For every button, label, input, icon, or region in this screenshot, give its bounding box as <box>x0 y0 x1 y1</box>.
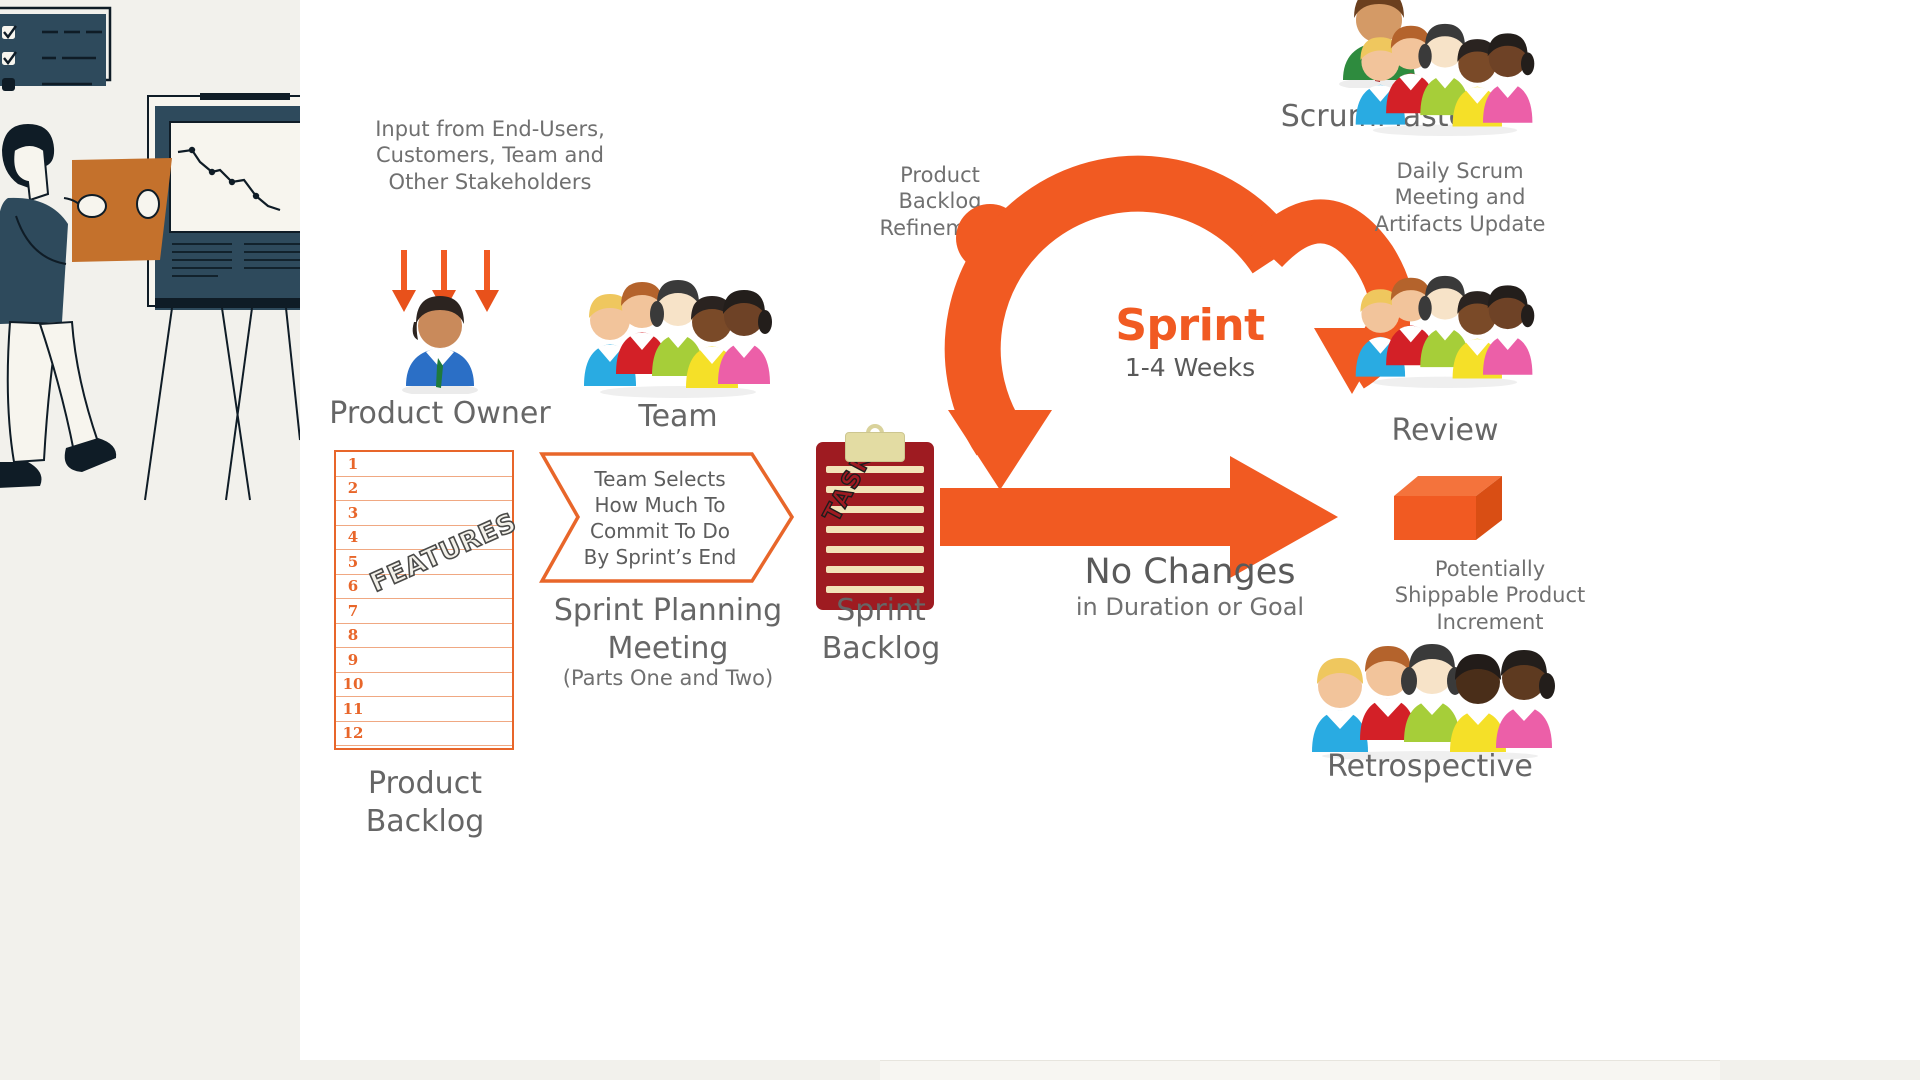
orange-box-icon <box>1390 470 1510 545</box>
clipboard-clip <box>845 432 905 462</box>
retrospective-label: Retrospective <box>1300 748 1560 786</box>
table-row[interactable]: 2 <box>336 477 512 502</box>
sprint-duration-label: 1-4 Weeks <box>1040 353 1340 382</box>
input-from-stakeholders-label: Input from End-Users, Customers, Team an… <box>320 116 660 195</box>
table-row[interactable]: 9 <box>336 648 512 673</box>
backlog-item-number: 7 <box>336 602 370 620</box>
backlog-item-number: 1 <box>336 455 370 473</box>
no-changes-label: No Changes <box>1020 550 1360 594</box>
sprint-center-text: Sprint 1-4 Weeks <box>1040 300 1340 382</box>
daily-scrum-label: Daily Scrum Meeting and Artifacts Update <box>1310 158 1610 237</box>
sprint-planning-chevron[interactable]: Team Selects How Much To Commit To Do By… <box>538 450 796 585</box>
backlog-item-number: 4 <box>336 528 370 546</box>
backlog-item-number: 5 <box>336 553 370 571</box>
table-row[interactable]: 5 <box>336 550 512 575</box>
increment-label: Potentially Shippable Product Increment <box>1340 556 1640 635</box>
table-row[interactable]: 12 <box>336 722 512 747</box>
backlog-item-number: 8 <box>336 626 370 644</box>
sprint-planning-parts-label: (Parts One and Two) <box>528 665 808 691</box>
team-people-group-icon <box>578 278 778 398</box>
person-hand-right <box>137 190 159 218</box>
product-backlog-label: Product Backlog <box>310 765 540 841</box>
chevron-text: Team Selects How Much To Commit To Do By… <box>538 450 796 585</box>
backlog-item-number: 2 <box>336 479 370 497</box>
sprint-ring-arrowhead <box>948 410 1052 490</box>
flipchart-chart-area <box>170 122 300 232</box>
no-changes-sub-label: in Duration or Goal <box>1020 592 1360 622</box>
person-shoe-left <box>0 462 41 488</box>
table-row[interactable]: 4 <box>336 526 512 551</box>
backlog-item-number: 6 <box>336 577 370 595</box>
backlog-item-number: 3 <box>336 504 370 522</box>
table-row[interactable]: 8 <box>336 624 512 649</box>
person-torso <box>0 198 68 324</box>
sprint-title: Sprint <box>1040 300 1340 351</box>
canvas-footer-strip <box>880 1060 1720 1080</box>
presenter-with-flipchart-illustration <box>0 0 300 520</box>
flipchart-legs <box>145 308 300 500</box>
review-label: Review <box>1340 412 1550 450</box>
team-people-group-icon <box>1350 272 1540 390</box>
table-row[interactable]: 11 <box>336 697 512 722</box>
clipboard-icon[interactable]: TASKS <box>816 424 934 612</box>
business-person-icon <box>390 282 490 394</box>
backlog-item-number: 9 <box>336 651 370 669</box>
clipboard-body: TASKS <box>816 442 934 610</box>
presenter-illustration-panel <box>0 0 300 520</box>
backlog-item-number: 12 <box>336 724 370 742</box>
table-row[interactable]: 1 <box>336 452 512 477</box>
team-people-group-icon <box>1300 640 1560 760</box>
scrum-diagram-canvas: Input from End-Users, Customers, Team an… <box>300 0 1920 1060</box>
sprint-backlog-label: Sprint Backlog <box>796 592 966 668</box>
person-hand-left <box>78 195 106 217</box>
checklist-board <box>0 14 106 86</box>
flipchart-bottom-bar <box>155 298 300 308</box>
backlog-item-number: 10 <box>336 675 370 693</box>
table-row[interactable]: 7 <box>336 599 512 624</box>
table-row[interactable]: 6 <box>336 575 512 600</box>
table-row[interactable]: 3 <box>336 501 512 526</box>
team-people-group-icon <box>1350 20 1540 138</box>
table-row[interactable]: 10 <box>336 673 512 698</box>
product-backlog-list[interactable]: 1 2 3 4 5 6 7 8 9 10 11 12 FEATURES <box>334 450 514 750</box>
backlog-item-number: 11 <box>336 700 370 718</box>
sprint-planning-meeting-label: Sprint Planning Meeting <box>528 592 808 668</box>
flipchart-top-bar <box>200 93 290 100</box>
person-face <box>13 145 48 200</box>
team-label: Team <box>578 398 778 436</box>
checkbox-unchecked <box>2 78 15 91</box>
product-owner-label: Product Owner <box>320 395 560 433</box>
